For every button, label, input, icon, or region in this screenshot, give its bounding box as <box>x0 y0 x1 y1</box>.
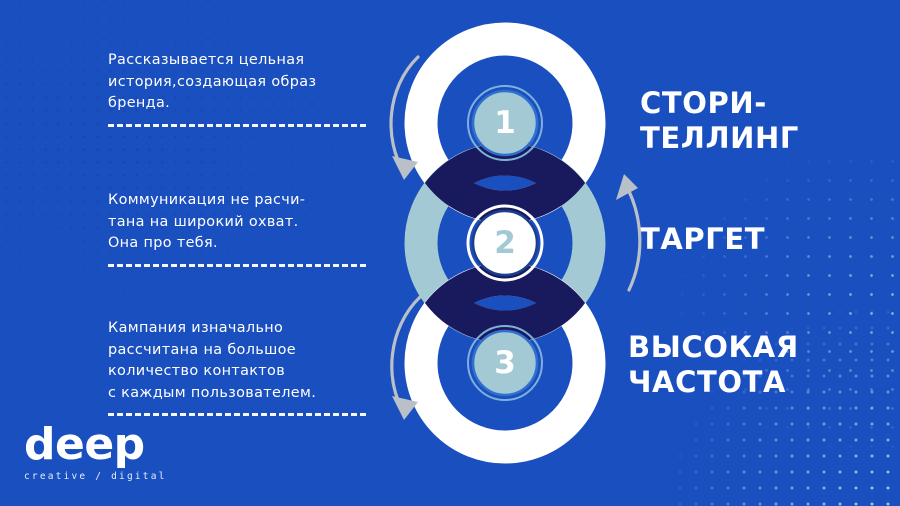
slide-canvas: Рассказывается цельная история,создающая… <box>0 0 900 506</box>
step-label-3: ВЫСОКАЯ ЧАСТОТА <box>628 330 799 400</box>
logo-wordmark: deep <box>24 422 167 468</box>
description-text-1: Рассказывается цельная история,создающая… <box>108 50 376 115</box>
step-label-2: ТАРГЕТ <box>640 222 765 257</box>
divider-1 <box>108 124 366 127</box>
arrowhead-right <box>616 174 638 200</box>
divider-2 <box>108 264 366 267</box>
description-block-2: Коммуникация не расчи- тана на широкий о… <box>108 190 376 267</box>
arrow-path-right <box>624 182 640 290</box>
step-number-3: 3 <box>494 345 516 381</box>
step-badge-1: 1 <box>468 86 542 160</box>
divider-3 <box>108 413 366 416</box>
description-text-3: Кампания изначально рассчитана на большо… <box>108 318 376 404</box>
step-label-1: СТОРИ- ТЕЛЛИНГ <box>640 86 799 156</box>
step-number-2: 2 <box>494 225 516 261</box>
logo-tagline: creative / digital <box>24 471 167 482</box>
description-block-1: Рассказывается цельная история,создающая… <box>108 50 376 127</box>
description-text-2: Коммуникация не расчи- тана на широкий о… <box>108 190 376 255</box>
figure-eight-diagram: 1 2 3 <box>378 22 642 470</box>
step-badge-3: 3 <box>468 326 542 400</box>
description-block-3: Кампания изначально рассчитана на большо… <box>108 318 376 416</box>
step-number-1: 1 <box>494 105 516 141</box>
brand-logo: deep creative / digital <box>24 422 167 482</box>
step-badge-2: 2 <box>468 206 542 280</box>
